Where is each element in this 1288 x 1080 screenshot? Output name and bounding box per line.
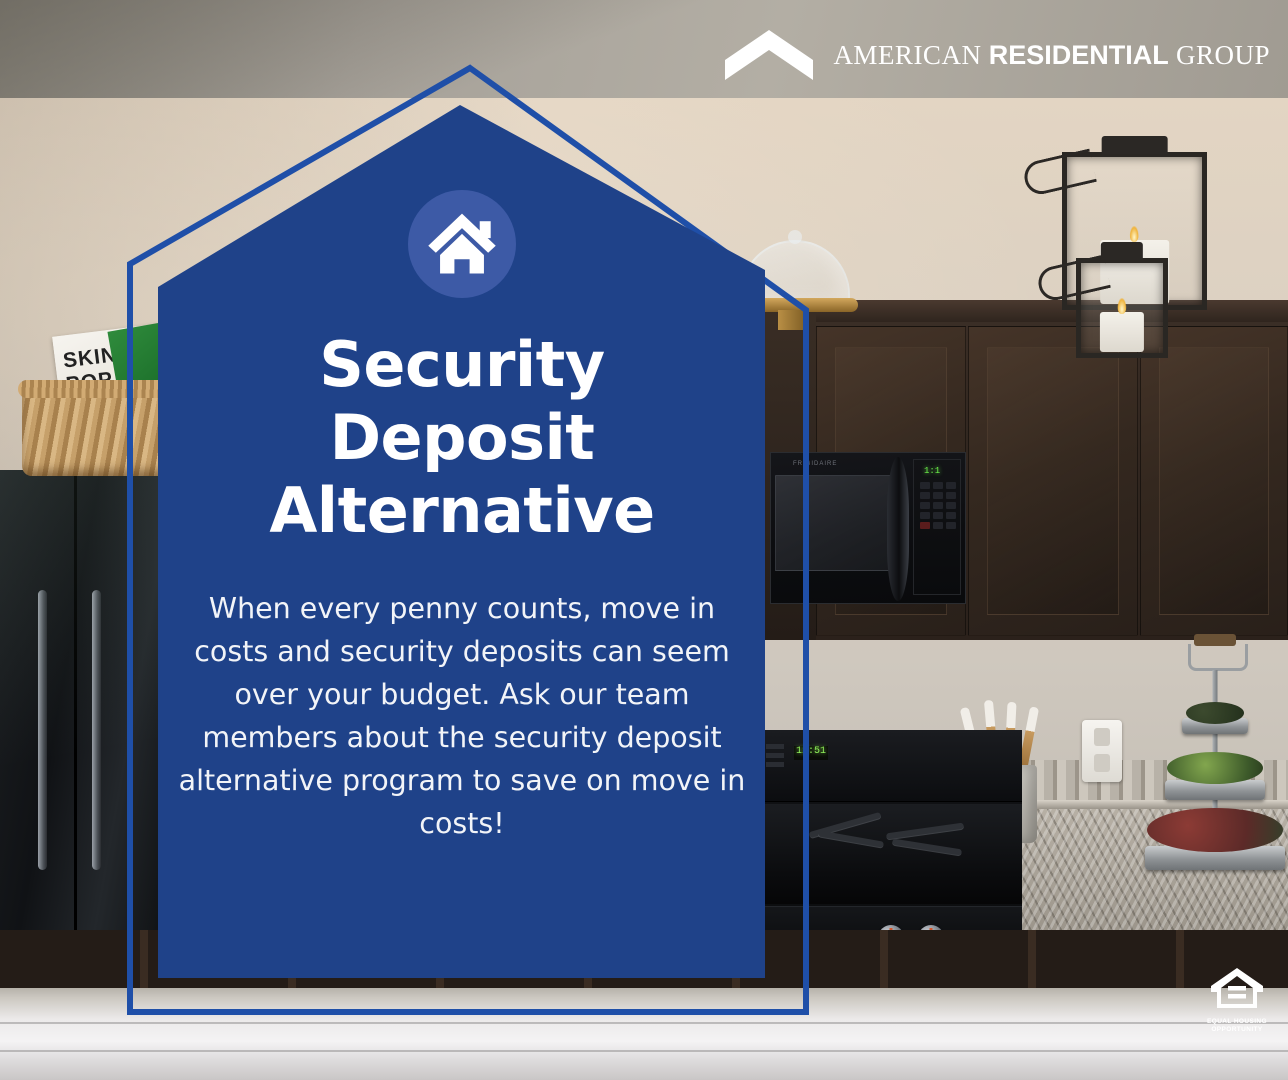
logo-word-american: AMERICAN: [833, 40, 981, 70]
headline-line-1: Security: [158, 328, 766, 401]
equal-housing-icon: [1209, 966, 1265, 1010]
eho-line-2: OPPORTUNITY: [1200, 1026, 1274, 1034]
house-icon-badge: [408, 190, 516, 298]
brand-logo-text: AMERICAN RESIDENTIAL GROUP: [833, 40, 1270, 71]
brand-logo[interactable]: AMERICAN RESIDENTIAL GROUP: [725, 26, 1270, 84]
equal-housing-opportunity-badge: EQUAL HOUSING OPPORTUNITY: [1200, 966, 1274, 1034]
headline-line-2: Deposit: [158, 401, 766, 474]
body-paragraph: When every penny counts, move in costs a…: [158, 587, 766, 845]
chevron-roof-icon: [725, 26, 813, 84]
eho-caption: EQUAL HOUSING OPPORTUNITY: [1200, 1018, 1274, 1034]
page-title: Security Deposit Alternative: [158, 328, 766, 547]
eho-line-1: EQUAL HOUSING: [1200, 1018, 1274, 1026]
panel-content: Security Deposit Alternative When every …: [158, 190, 766, 845]
promotional-graphic: FRIGIDAIRE 1:1 SKINNY POP: [0, 0, 1288, 1080]
house-icon: [408, 190, 516, 298]
headline-line-3: Alternative: [158, 474, 766, 547]
logo-word-group: GROUP: [1176, 40, 1270, 70]
logo-word-residential: RESIDENTIAL: [989, 40, 1169, 70]
